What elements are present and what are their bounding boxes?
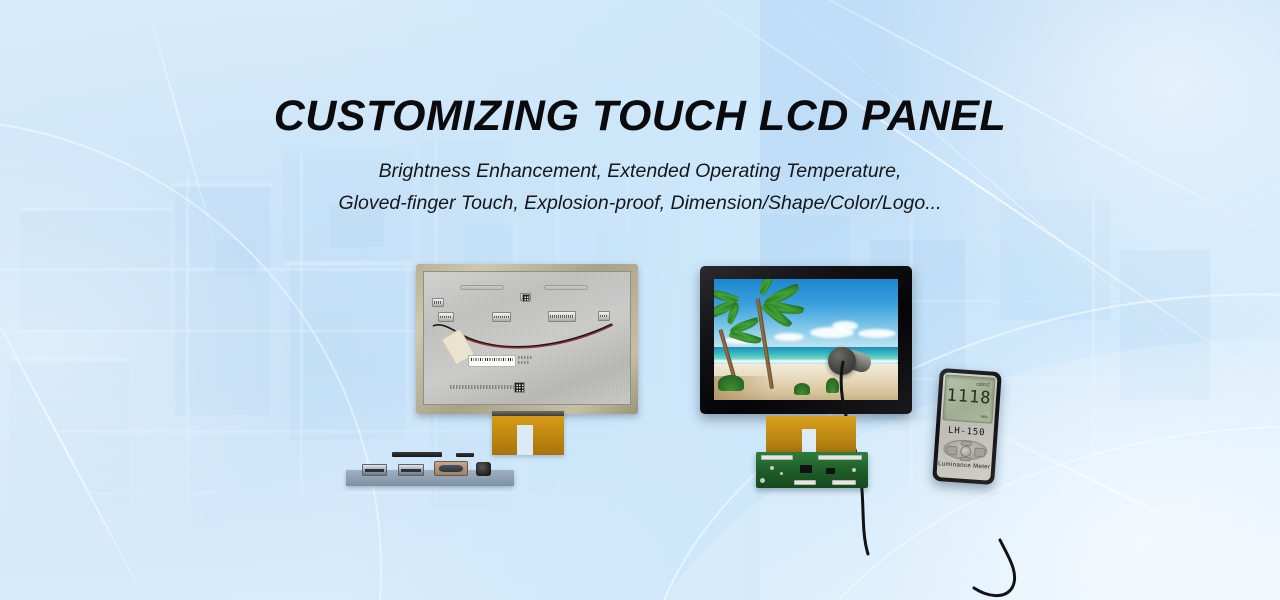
driver-board-top-header <box>392 452 442 457</box>
lcd-label-text-2 <box>518 361 530 364</box>
driver-board-top-header-2 <box>456 453 474 457</box>
meter-key-center[interactable] <box>960 446 972 458</box>
tcon-main-ic <box>800 465 812 473</box>
tcon-fpc-connector-right <box>818 455 862 460</box>
vga-port <box>434 461 468 476</box>
lcd-fpc-ribbon-tail <box>492 411 564 455</box>
tcon-ic-2 <box>826 468 835 474</box>
lcd-label-text-1 <box>518 356 532 359</box>
tcon-capacitor-3 <box>852 468 856 472</box>
tcon-driver-board <box>756 452 868 488</box>
lcd-driver-board <box>346 452 514 486</box>
dc-power-jack <box>476 462 491 476</box>
luminance-meter: cd/m2 1118 nits LH-150 Luminance Meter <box>932 368 1002 485</box>
lcd-label-text-3 <box>450 385 516 389</box>
meter-unit-small-label: nits <box>981 414 988 419</box>
meter-cable <box>930 470 1070 600</box>
meter-key-down[interactable] <box>960 457 971 462</box>
lcd-module-rear <box>416 264 638 414</box>
lcd-barcode-label-1 <box>468 355 516 367</box>
tcon-mount-hole <box>760 478 765 483</box>
meter-key-left[interactable] <box>946 446 958 456</box>
tcon-connector-bottom-right <box>832 480 856 485</box>
tcon-capacitor-2 <box>780 472 783 475</box>
lcd-qr-code <box>514 382 525 393</box>
meter-reading-value: 1118 <box>944 385 993 408</box>
banner-subtitle-line2: Gloved-finger Touch, Explosion-proof, Di… <box>0 192 1280 215</box>
hdmi-port-1 <box>362 464 387 476</box>
lcd-qr-code-small <box>522 294 530 302</box>
meter-key-right[interactable] <box>974 448 986 458</box>
hdmi-port-2 <box>398 464 424 476</box>
touch-panel-fpc-ribbon <box>766 416 856 456</box>
tcon-fpc-connector-left <box>761 455 793 460</box>
tcon-connector-bottom-left <box>794 480 816 485</box>
product-banner: CUSTOMIZING TOUCH LCD PANEL Brightness E… <box>0 0 1280 600</box>
meter-lcd-display: cd/m2 1118 nits <box>942 374 995 423</box>
banner-subtitle-line1: Brightness Enhancement, Extended Operati… <box>0 160 1280 183</box>
banner-headline: CUSTOMIZING TOUCH LCD PANEL <box>0 92 1280 141</box>
tcon-capacitor-1 <box>770 466 774 470</box>
